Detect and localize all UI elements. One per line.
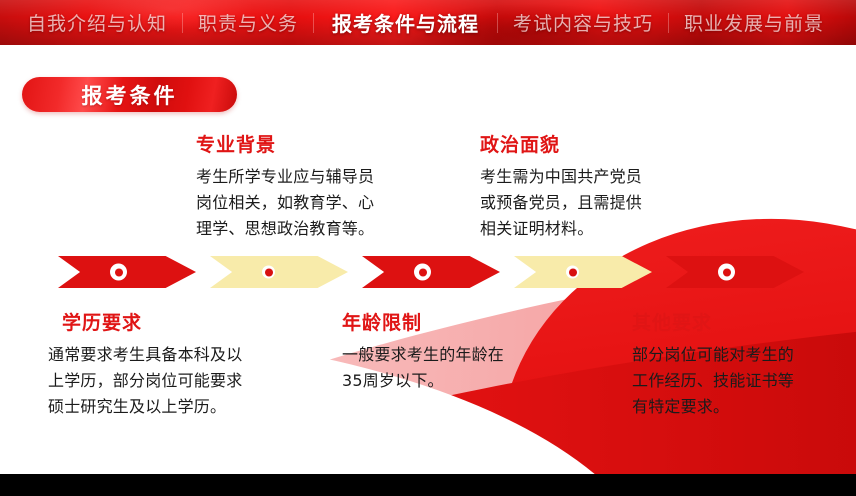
block-body-education-requirement: 通常要求考生具备本科及以 上学历，部分岗位可能要求 硕士研究生及以上学历。 <box>48 342 308 420</box>
nav-item-exam-requirements[interactable]: 报考条件与流程 <box>314 8 497 37</box>
nav-item-self-introduction[interactable]: 自我介绍与认知 <box>12 9 182 36</box>
block-title-education-requirement: 学历要求 <box>48 308 308 335</box>
chevron-arrow-5 <box>666 256 804 288</box>
block-line: 35周岁以下。 <box>342 368 592 394</box>
block-line: 相关证明材料。 <box>480 216 730 242</box>
chevron-dot-inner-1 <box>115 268 123 276</box>
chevron-dot-outer-4 <box>566 266 579 279</box>
content-block-major-background: 专业背景 考生所学专业应与辅导员 岗位相关，如教育学、心 理学、思想政治教育等。 <box>196 130 446 242</box>
content-block-other-requirements: 其他要求 部分岗位可能对考生的 工作经历、技能证书等 有特定要求。 <box>632 308 856 420</box>
block-line: 或预备党员，且需提供 <box>480 190 730 216</box>
chevron-dot-inner-4 <box>569 268 577 276</box>
chevron-arrow-3 <box>362 256 500 288</box>
block-line: 工作经历、技能证书等 <box>632 368 856 394</box>
chevron-dot-4 <box>566 266 579 279</box>
block-line: 上学历，部分岗位可能要求 <box>48 368 308 394</box>
top-navigation-bar: 自我介绍与认知 职责与义务 报考条件与流程 考试内容与技巧 职业发展与前景 <box>0 0 856 45</box>
chevron-dot-3 <box>414 264 431 281</box>
block-title-political-status: 政治面貌 <box>480 130 730 157</box>
block-line: 有特定要求。 <box>632 394 856 420</box>
chevron-dot-outer-1 <box>110 264 127 281</box>
block-line: 考生所学专业应与辅导员 <box>196 164 446 190</box>
section-title-pill: 报考条件 <box>22 77 237 112</box>
content-block-age-limit: 年龄限制 一般要求考生的年龄在 35周岁以下。 <box>342 308 592 394</box>
block-line: 硕士研究生及以上学历。 <box>48 394 308 420</box>
block-body-political-status: 考生需为中国共产党员 或预备党员，且需提供 相关证明材料。 <box>480 164 730 242</box>
block-body-age-limit: 一般要求考生的年龄在 35周岁以下。 <box>342 342 592 394</box>
block-line: 通常要求考生具备本科及以 <box>48 342 308 368</box>
chevron-arrow-2 <box>210 256 348 288</box>
chevron-dot-inner-2 <box>265 268 273 276</box>
chevron-dot-1 <box>110 264 127 281</box>
block-line: 部分岗位可能对考生的 <box>632 342 856 368</box>
block-line: 一般要求考生的年龄在 <box>342 342 592 368</box>
nav-item-duties[interactable]: 职责与义务 <box>183 9 313 36</box>
section-title-text: 报考条件 <box>82 80 178 110</box>
nav-item-career-prospects[interactable]: 职业发展与前景 <box>669 9 839 36</box>
nav-item-list: 自我介绍与认知 职责与义务 报考条件与流程 考试内容与技巧 职业发展与前景 <box>0 0 856 45</box>
content-block-education-requirement: 学历要求 通常要求考生具备本科及以 上学历，部分岗位可能要求 硕士研究生及以上学… <box>48 308 308 420</box>
chevron-dot-inner-3 <box>419 268 427 276</box>
block-body-other-requirements: 部分岗位可能对考生的 工作经历、技能证书等 有特定要求。 <box>632 342 856 420</box>
block-line: 理学、思想政治教育等。 <box>196 216 446 242</box>
chevron-dot-5 <box>718 264 735 281</box>
chevron-arrow-row <box>58 256 798 288</box>
content-block-political-status: 政治面貌 考生需为中国共产党员 或预备党员，且需提供 相关证明材料。 <box>480 130 730 242</box>
chevron-arrow-4 <box>514 256 652 288</box>
block-title-major-background: 专业背景 <box>196 130 446 157</box>
chevron-arrow-1 <box>58 256 196 288</box>
block-title-age-limit: 年龄限制 <box>342 308 592 335</box>
block-body-major-background: 考生所学专业应与辅导员 岗位相关，如教育学、心 理学、思想政治教育等。 <box>196 164 446 242</box>
block-line: 考生需为中国共产党员 <box>480 164 730 190</box>
chevron-dot-outer-2 <box>262 266 275 279</box>
chevron-dot-inner-5 <box>723 268 731 276</box>
chevron-dot-outer-3 <box>414 264 431 281</box>
chevron-dot-2 <box>262 266 275 279</box>
nav-item-exam-content[interactable]: 考试内容与技巧 <box>498 9 668 36</box>
block-line: 岗位相关，如教育学、心 <box>196 190 446 216</box>
chevron-dot-outer-5 <box>718 264 735 281</box>
block-title-other-requirements: 其他要求 <box>632 308 856 335</box>
slide-canvas: 自我介绍与认知 职责与义务 报考条件与流程 考试内容与技巧 职业发展与前景 报考… <box>0 0 856 496</box>
footer-black-bar <box>0 474 856 496</box>
